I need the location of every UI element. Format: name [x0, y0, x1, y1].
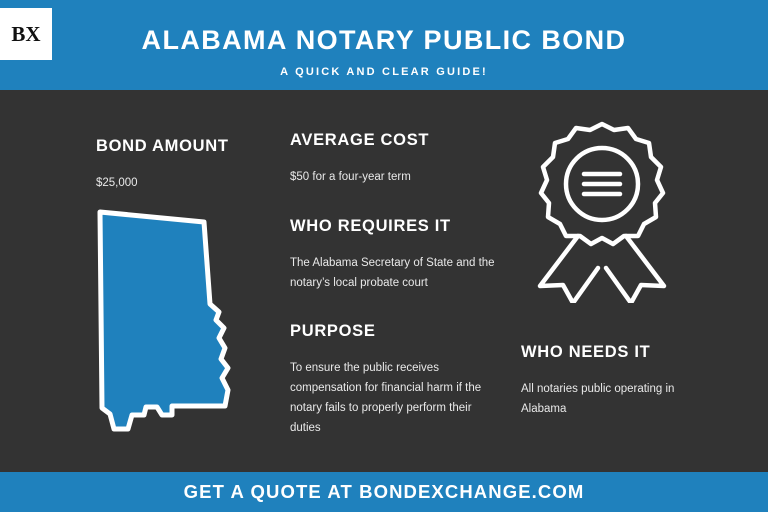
- notary-seal-ribbon-icon: [516, 118, 688, 303]
- average-cost-text: $50 for a four-year term: [290, 167, 510, 187]
- who-needs-it-heading: WHO NEEDS IT: [521, 343, 650, 362]
- who-requires-it-text: The Alabama Secretary of State and the n…: [290, 253, 495, 293]
- content-area: BOND AMOUNT $25,000 AVERAGE COST $50 for…: [0, 90, 768, 472]
- footer-cta-bar[interactable]: GET A QUOTE AT BONDEXCHANGE.COM: [0, 472, 768, 512]
- page-subtitle: A QUICK AND CLEAR GUIDE!: [0, 66, 768, 78]
- who-requires-it-heading: WHO REQUIRES IT: [290, 217, 451, 236]
- who-needs-it-text: All notaries public operating in Alabama: [521, 379, 721, 419]
- alabama-state-map-icon: [88, 208, 248, 433]
- purpose-heading: PURPOSE: [290, 322, 376, 341]
- purpose-text: To ensure the public receives compensati…: [290, 358, 495, 438]
- average-cost-heading: AVERAGE COST: [290, 131, 429, 150]
- header-banner: BX ALABAMA NOTARY PUBLIC BOND A QUICK AN…: [0, 0, 768, 90]
- infographic-page: BX ALABAMA NOTARY PUBLIC BOND A QUICK AN…: [0, 0, 768, 512]
- bond-amount-value: $25,000: [96, 173, 138, 193]
- bond-amount-heading: BOND AMOUNT: [96, 137, 229, 156]
- footer-cta-text: GET A QUOTE AT BONDEXCHANGE.COM: [184, 481, 585, 503]
- page-title: ALABAMA NOTARY PUBLIC BOND: [0, 25, 768, 56]
